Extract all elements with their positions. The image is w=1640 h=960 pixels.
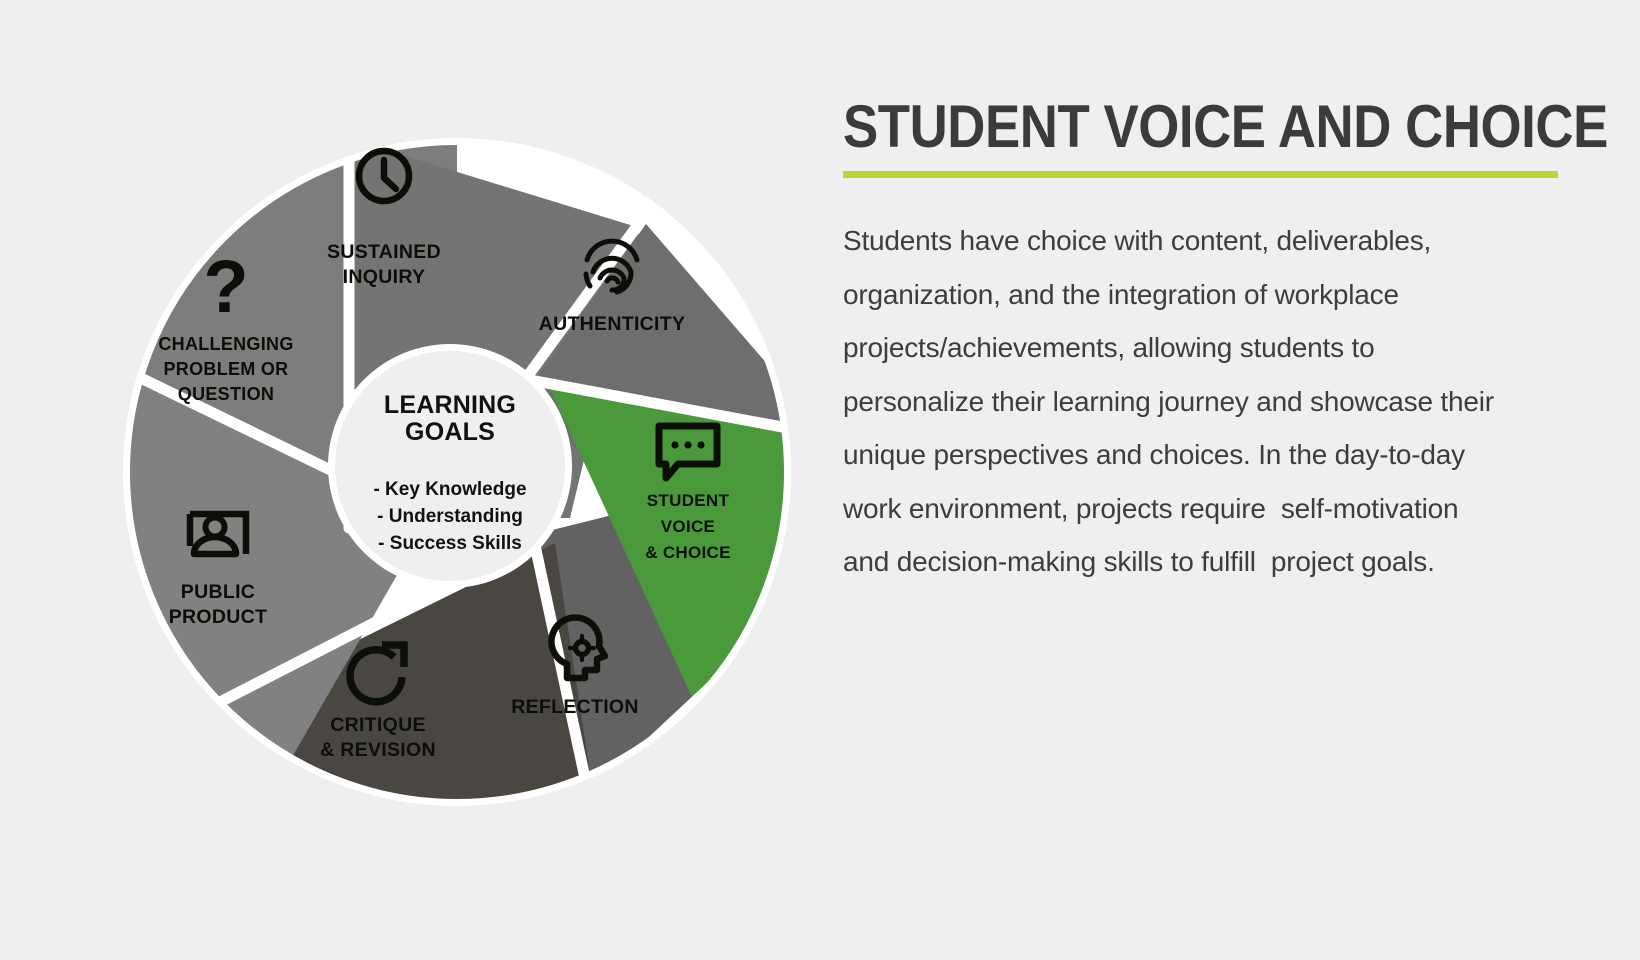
label-student-voice-line2: VOICE xyxy=(661,517,715,536)
core-bullet-1: - Understanding xyxy=(377,506,523,527)
label-student-voice-line1: STUDENT xyxy=(647,491,730,510)
label-challenging-line3: QUESTION xyxy=(178,384,274,404)
text-panel: STUDENT VOICE AND CHOICE Students have c… xyxy=(843,96,1573,617)
pbl-aperture-wheel: LEARNING GOALS - Key Knowledge - Underst… xyxy=(100,118,812,830)
label-sustained-inquiry-line2: INQUIRY xyxy=(343,266,426,288)
core-bullet-0: - Key Knowledge xyxy=(373,479,526,500)
core-title-line1: LEARNING xyxy=(384,391,516,419)
title-underline-rule xyxy=(843,171,1558,178)
question-mark-icon: ? xyxy=(203,245,248,328)
label-authenticity: AUTHENTICITY xyxy=(539,313,686,335)
wheel-svg: LEARNING GOALS - Key Knowledge - Underst… xyxy=(100,118,812,830)
page-title: STUDENT VOICE AND CHOICE xyxy=(843,96,1485,158)
infographic-slide: LEARNING GOALS - Key Knowledge - Underst… xyxy=(0,0,1640,960)
label-public-product-line1: PUBLIC xyxy=(181,581,255,603)
label-challenging-line2: PROBLEM OR xyxy=(163,359,288,379)
svg-text:?: ? xyxy=(203,245,248,328)
label-public-product-line2: PRODUCT xyxy=(169,606,268,628)
label-critique-line2: & REVISION xyxy=(320,739,436,761)
label-critique-line1: CRITIQUE xyxy=(330,714,426,736)
label-challenging-line1: CHALLENGING xyxy=(158,334,293,354)
body-paragraph: Students have choice with content, deliv… xyxy=(843,214,1503,589)
core-title-line2: GOALS xyxy=(405,418,495,446)
label-student-voice-line3: & CHOICE xyxy=(645,543,731,562)
core-bullet-2: - Success Skills xyxy=(378,533,522,554)
label-sustained-inquiry-line1: SUSTAINED xyxy=(327,241,441,263)
label-reflection: REFLECTION xyxy=(511,696,639,718)
